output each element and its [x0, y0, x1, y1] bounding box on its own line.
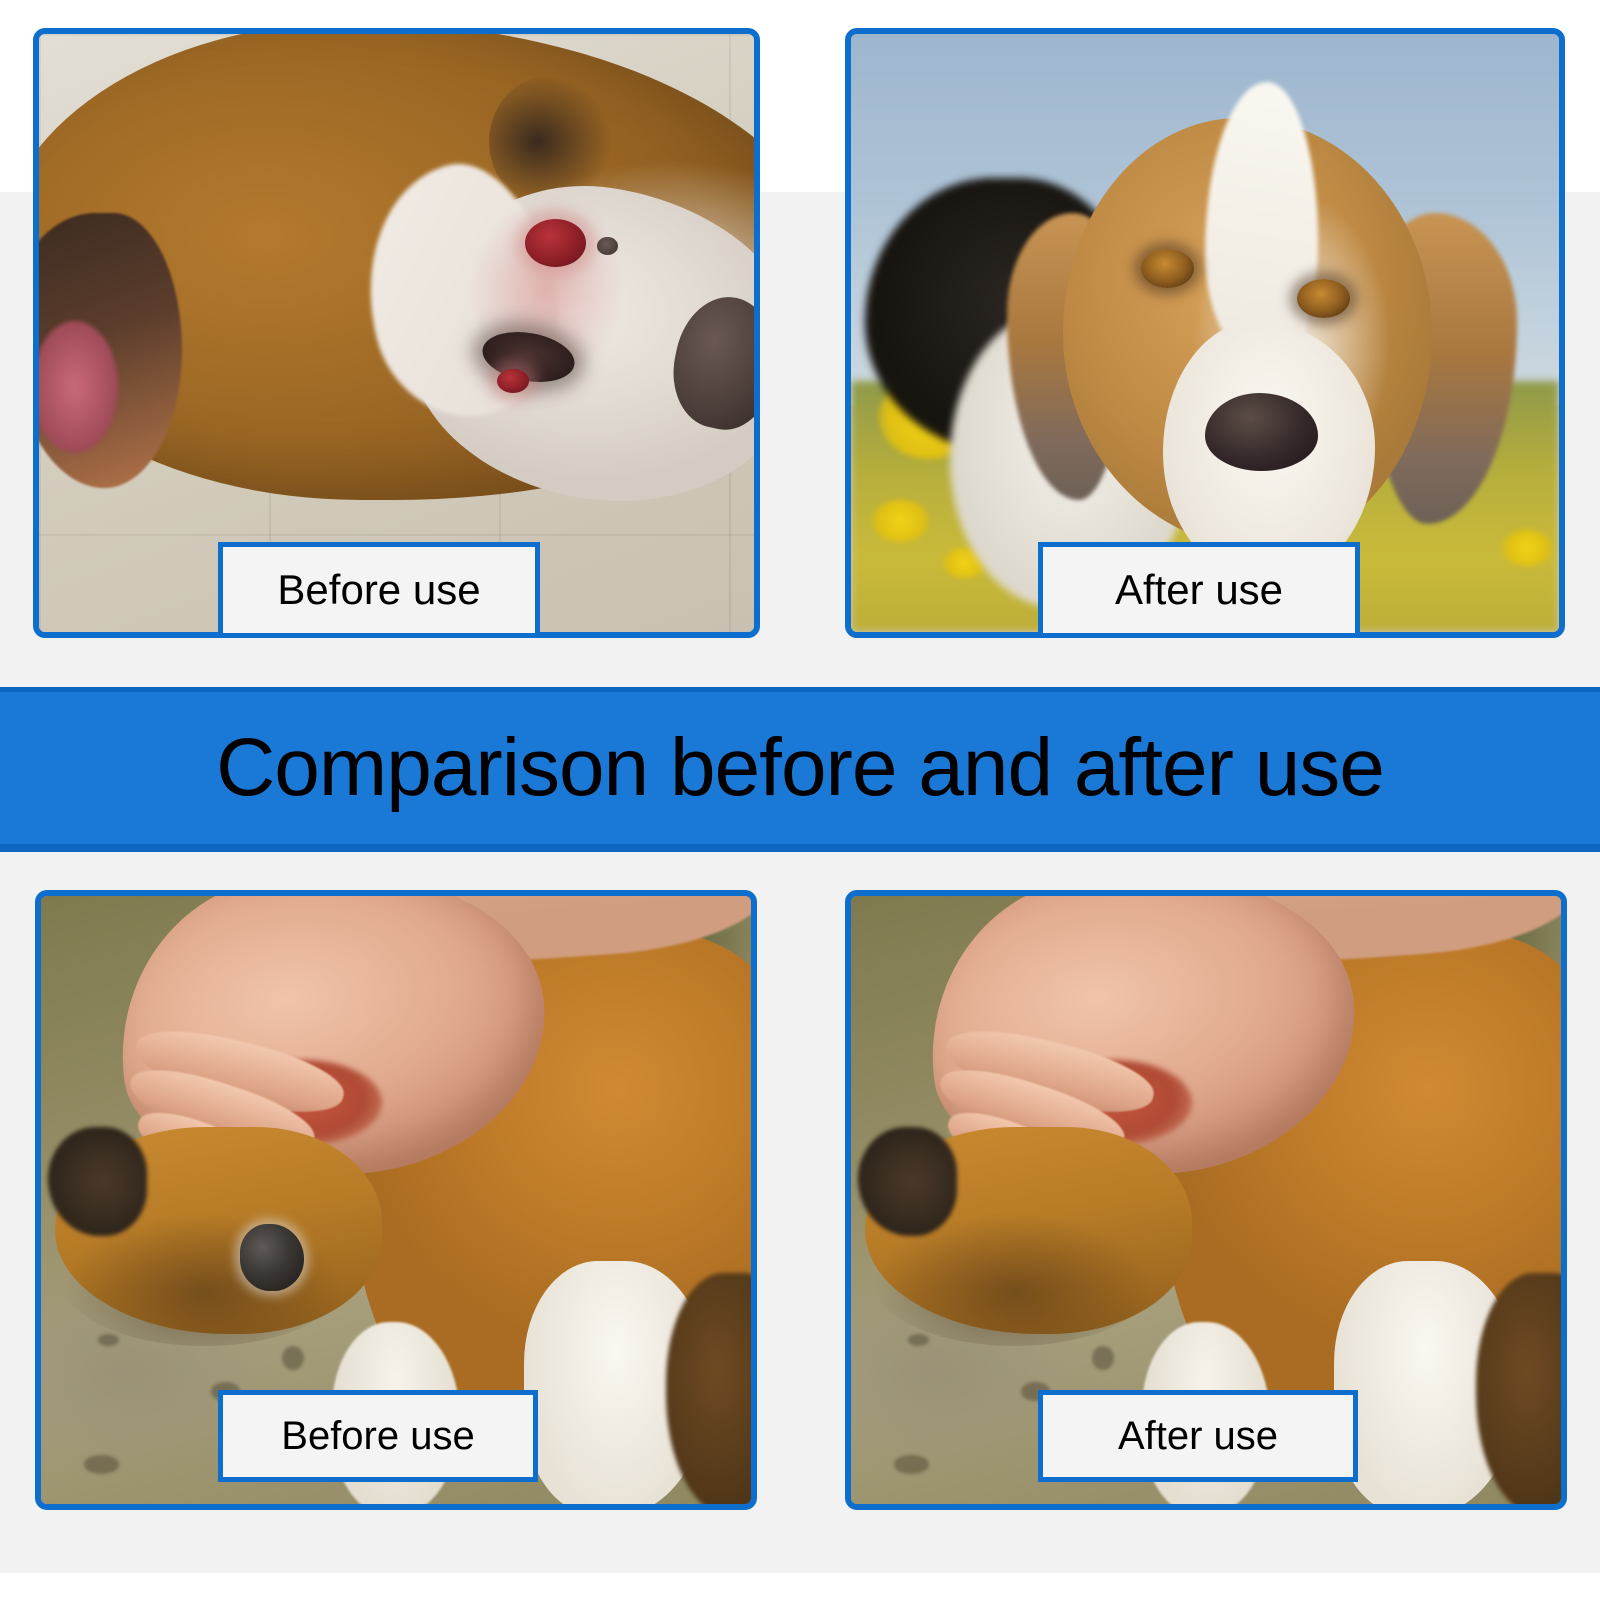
ground-speck	[84, 1455, 120, 1473]
ear-skin-lesion	[240, 1224, 304, 1291]
dog-inner-ear	[33, 321, 118, 453]
caption-label: Before use	[277, 566, 480, 614]
caption-after-face: After use	[1038, 542, 1360, 638]
page-background-bottom	[0, 1573, 1600, 1600]
yellow-flower	[872, 500, 929, 542]
beagle-eye-right	[1297, 279, 1350, 318]
banner-title: Comparison before and after use	[216, 727, 1384, 809]
dog-ear-dark-tip	[48, 1127, 147, 1236]
caption-before-ear: Before use	[218, 1390, 538, 1482]
caption-after-ear: After use	[1038, 1390, 1358, 1482]
caption-label: After use	[1115, 566, 1283, 614]
dog-ear-dark-tip	[858, 1127, 957, 1236]
caption-label: Before use	[281, 1414, 474, 1459]
yellow-flower	[1502, 530, 1552, 566]
ground-speck	[282, 1346, 303, 1370]
ground-speck	[908, 1334, 929, 1346]
caption-label: After use	[1118, 1414, 1278, 1459]
comparison-banner: Comparison before and after use	[0, 687, 1600, 852]
skin-lesion-secondary	[497, 369, 529, 393]
ground-speck	[1092, 1346, 1113, 1370]
ground-speck	[894, 1455, 930, 1473]
ground-speck	[98, 1334, 119, 1346]
skin-lesion-primary	[525, 219, 586, 267]
caption-before-face: Before use	[218, 542, 540, 638]
